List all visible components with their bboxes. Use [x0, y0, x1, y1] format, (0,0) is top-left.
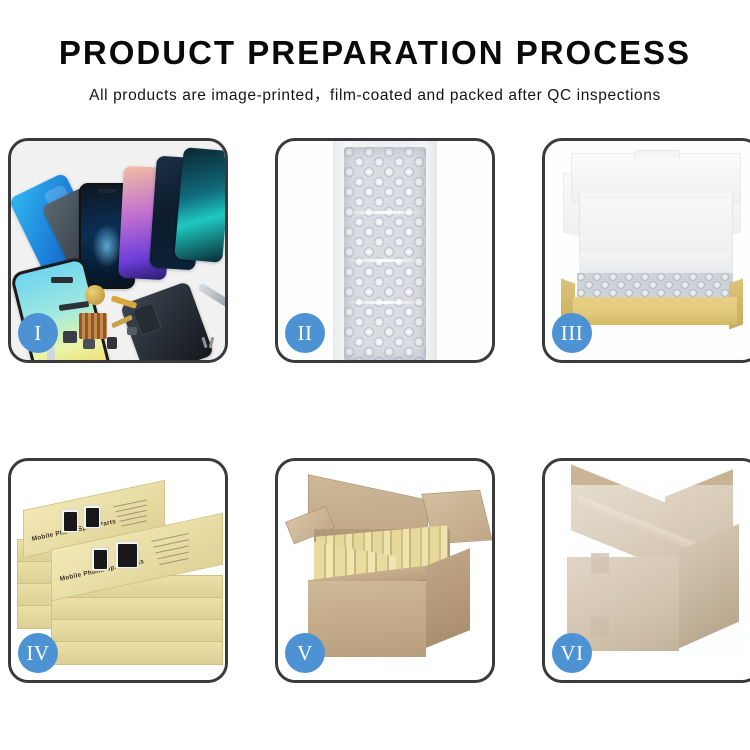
box-screen-image: [61, 509, 79, 533]
screws-icon: [201, 337, 217, 351]
small-part: [127, 327, 137, 335]
small-part: [63, 331, 77, 343]
carton-tab: [591, 617, 609, 637]
step-badge-2: II: [285, 313, 325, 353]
process-steps-grid: I II: [8, 138, 742, 683]
carton-front-face: [308, 581, 426, 657]
step-badge-4: IV: [18, 633, 58, 673]
step-badge-6: VI: [552, 633, 592, 673]
small-part: [107, 337, 117, 349]
kraft-box-edge: [51, 597, 223, 621]
bubble-wrapped-contents: [577, 273, 733, 299]
bubble-wrap-seam: [344, 211, 426, 214]
step-panel-3: III: [542, 138, 750, 363]
mailer-front-panel: [573, 297, 737, 325]
step-panel-2: II: [275, 138, 495, 363]
box-screen-image: [91, 547, 109, 571]
page-title: PRODUCT PREPARATION PROCESS: [0, 36, 750, 71]
page-subtitle: All products are image-printed，film-coat…: [0, 83, 750, 105]
step-panel-1: I: [8, 138, 228, 363]
kraft-box-edge: [51, 619, 223, 643]
product-preparation-infographic: PRODUCT PREPARATION PROCESS All products…: [0, 0, 750, 750]
bubble-wrap-seam: [344, 301, 426, 304]
step-panel-4: Mobile Phone Spare Parts Mobile Phone Sp…: [8, 458, 228, 683]
small-part: [83, 339, 95, 349]
step-badge-5: V: [285, 633, 325, 673]
step-badge-3: III: [552, 313, 592, 353]
header: PRODUCT PREPARATION PROCESS All products…: [0, 0, 750, 105]
kraft-box-edge: [51, 641, 223, 665]
box-screen-image: [115, 541, 139, 569]
bubble-wrap-seam: [344, 259, 426, 262]
step-panel-5: V: [275, 458, 495, 683]
carton-tab: [591, 553, 609, 573]
step-panel-6: VI: [542, 458, 750, 683]
bubble-wrap-bubbles: [344, 147, 426, 360]
step-badge-1: I: [18, 313, 58, 353]
small-part: [51, 277, 73, 283]
phone-teal-screen: [174, 147, 225, 263]
box-screen-image: [83, 505, 101, 529]
chip-part-icon: [79, 313, 107, 339]
